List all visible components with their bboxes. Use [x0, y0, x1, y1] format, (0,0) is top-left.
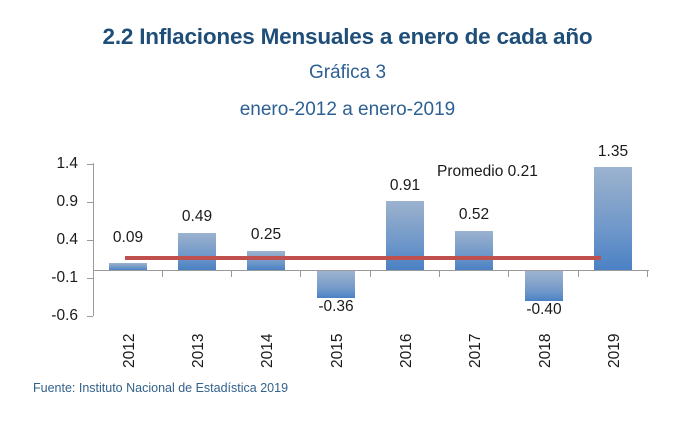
chart-figure: 2.2 Inflaciones Mensuales a enero de cad…	[0, 0, 695, 422]
chart-subtitle: Gráfica 3	[0, 62, 695, 84]
x-tick-mark	[439, 271, 440, 277]
y-tick-mark	[87, 278, 93, 279]
x-tick-mark	[508, 271, 509, 277]
x-axis-line	[93, 270, 649, 271]
source-note: Fuente: Instituto Nacional de Estadístic…	[33, 381, 288, 395]
bar-value-label-2019: 1.35	[578, 143, 648, 161]
x-axis-category-label-2017: 2017	[467, 334, 485, 368]
y-tick-mark	[87, 164, 93, 165]
bar-value-label-2014: 0.25	[231, 226, 301, 244]
chart-period-label: enero-2012 a enero-2019	[0, 99, 695, 121]
bar-value-label-2015: -0.36	[301, 298, 371, 316]
x-tick-mark	[231, 271, 232, 277]
x-axis-category-label-2015: 2015	[329, 334, 347, 368]
bar-value-label-2013: 0.49	[162, 208, 232, 226]
average-annotation-label: Promedio 0.21	[437, 163, 538, 181]
bar-2012[interactable]	[109, 263, 147, 270]
y-axis-tick-label: 0.9	[28, 193, 78, 211]
x-axis-category-label-2013: 2013	[190, 334, 208, 368]
y-tick-mark	[87, 316, 93, 317]
bar-2013[interactable]	[178, 233, 216, 270]
x-axis-category-label-2019: 2019	[606, 334, 624, 368]
bar-value-label-2018: -0.40	[509, 301, 579, 319]
bar-value-label-2017: 0.52	[439, 206, 509, 224]
bar-2017[interactable]	[455, 231, 493, 270]
y-axis-tick-label: -0.1	[28, 269, 78, 287]
x-axis-category-label-2018: 2018	[537, 334, 555, 368]
y-axis-tick-label: -0.6	[28, 307, 78, 325]
x-axis-category-label-2016: 2016	[398, 334, 416, 368]
bar-2018[interactable]	[525, 271, 563, 301]
y-axis-tick-label: 1.4	[28, 155, 78, 173]
page-title: 2.2 Inflaciones Mensuales a enero de cad…	[0, 24, 695, 50]
x-tick-mark	[370, 271, 371, 277]
x-tick-mark	[578, 271, 579, 277]
bar-value-label-2016: 0.91	[370, 177, 440, 195]
x-axis-category-label-2012: 2012	[121, 334, 139, 368]
bar-2019[interactable]	[594, 167, 632, 270]
bar-value-label-2012: 0.09	[93, 229, 163, 247]
y-tick-mark	[87, 202, 93, 203]
x-tick-mark	[647, 271, 648, 277]
x-tick-mark	[162, 271, 163, 277]
x-axis-category-label-2014: 2014	[259, 334, 277, 368]
x-tick-mark	[300, 271, 301, 277]
bar-2015[interactable]	[317, 271, 355, 298]
y-axis-tick-label: 0.4	[28, 231, 78, 249]
average-line	[125, 256, 601, 260]
bar-2014[interactable]	[247, 251, 285, 270]
